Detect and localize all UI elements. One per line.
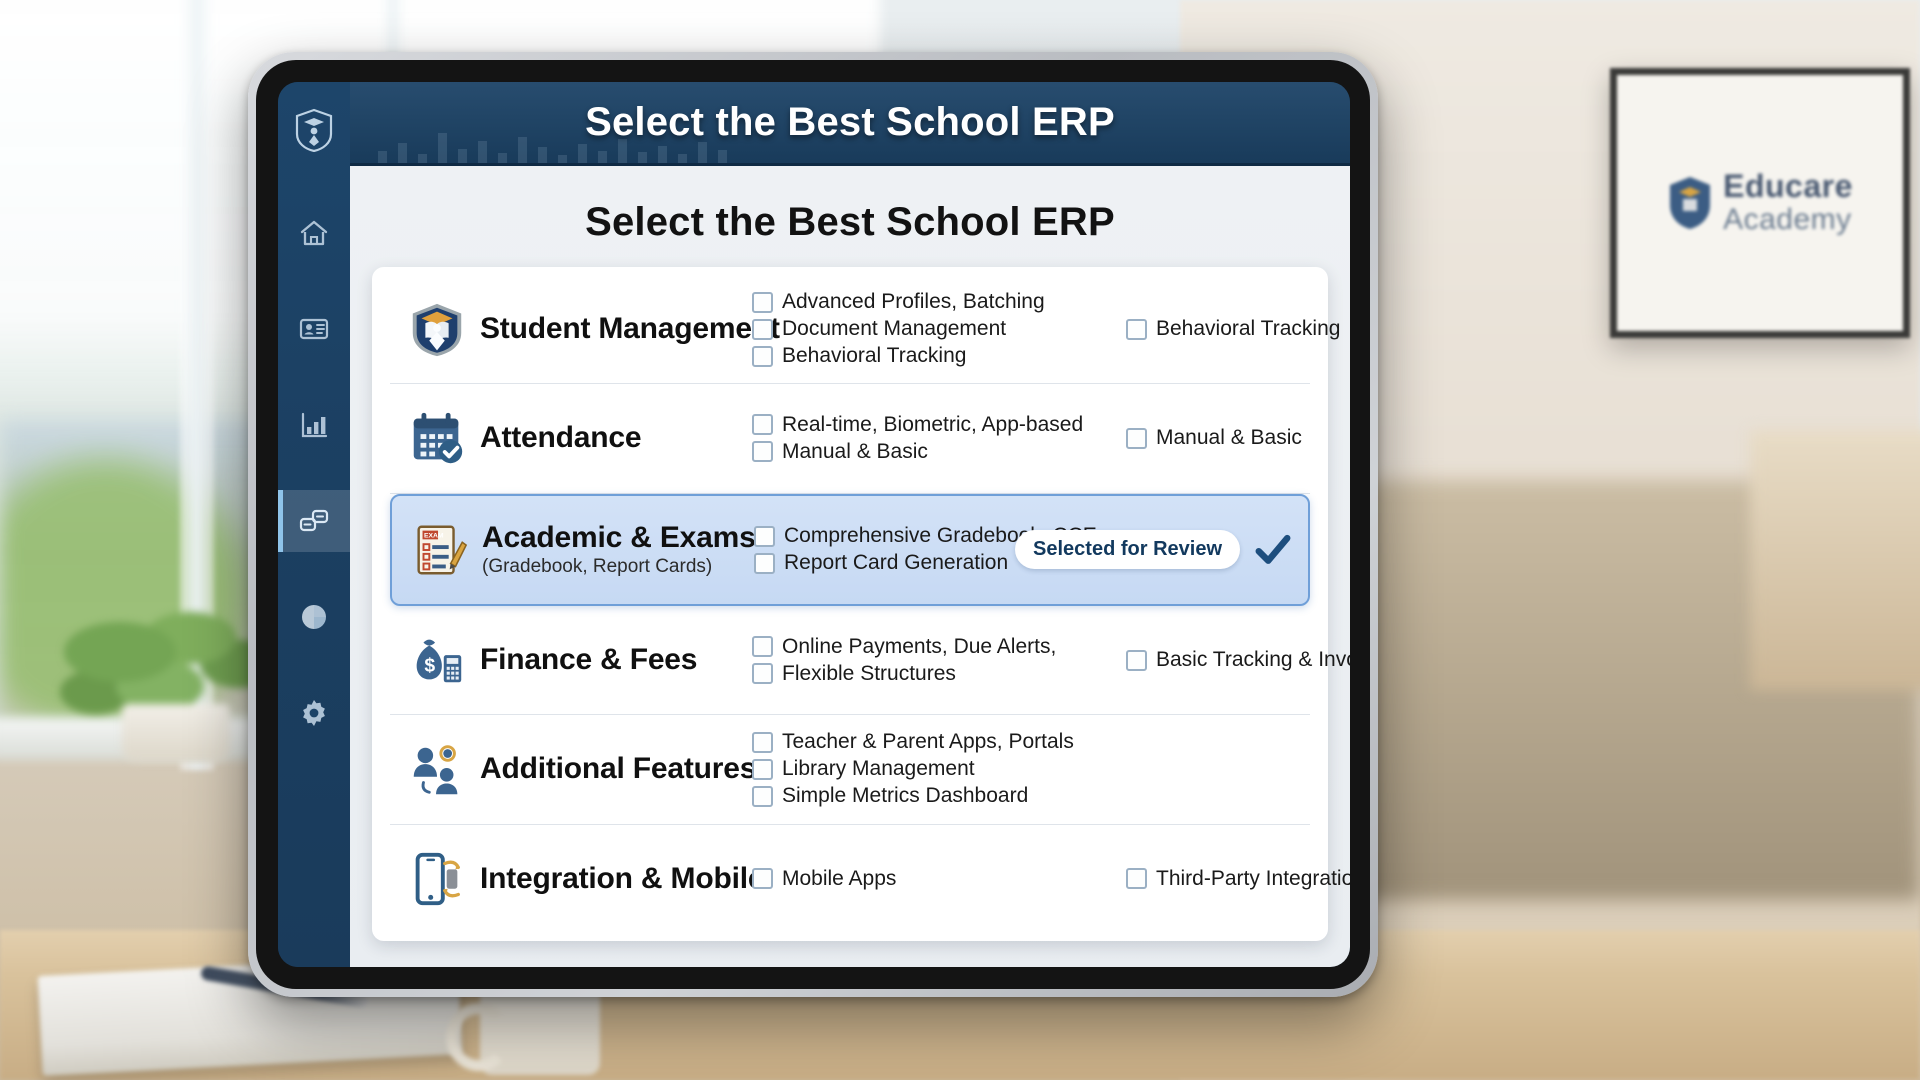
row-options: Real-time, Biometric, App-based Manual &… [752,413,1300,464]
table-row[interactable]: $ [390,606,1310,715]
checkbox[interactable] [754,526,775,547]
tablet-screen: Select the Best School ERP Select the Be… [278,82,1350,967]
checkbox[interactable] [754,553,775,574]
option-item[interactable]: Library Management [752,757,1112,781]
checkbox[interactable] [752,759,773,780]
row-options: Teacher & Parent Apps, Portals Library M… [752,730,1300,808]
row-title: Student Management [480,312,752,346]
checkbox[interactable] [1126,650,1147,671]
checkbox[interactable] [752,292,773,313]
row-options-right: Basic Tracking & Invoices [1112,635,1350,686]
option-item[interactable]: Advanced Profiles, Batching [752,290,1112,314]
option-label: Flexible Structures [782,662,956,686]
office-cabinet [1750,430,1920,690]
table-row-selected[interactable]: EXAM [390,494,1310,606]
erp-feature-comparison-card: Student Management Advanced Profiles, Ba… [372,267,1328,941]
row-options: Comprehensive Gradebook, CCE Report Card… [754,524,1048,575]
sidebar-item-reports[interactable] [278,394,350,456]
gear-icon [298,697,330,729]
row-options-right: Manual & Basic [1112,413,1302,464]
wall-sign-text: Educare Academy [1723,170,1853,235]
option-item[interactable]: Basic Tracking & Invoices [1126,648,1350,672]
option-item[interactable]: Behavioral Tracking [1126,317,1340,341]
sidebar-item-students[interactable] [278,298,350,360]
tablet-bezel: Select the Best School ERP Select the Be… [256,60,1370,989]
row-options: Advanced Profiles, Batching Document Man… [752,290,1300,368]
option-label: Teacher & Parent Apps, Portals [782,730,1074,754]
student-shield-icon [406,298,468,360]
checkbox[interactable] [752,414,773,435]
row-label: Additional Features [474,752,752,786]
option-item[interactable]: Manual & Basic [1126,426,1302,450]
app-topbar: Select the Best School ERP [350,82,1350,166]
row-icon [400,298,474,360]
wall-sign-line1: Educare [1723,170,1853,204]
wall-framed-sign: Educare Academy [1610,68,1910,338]
row-status: Selected for Review [1048,530,1298,569]
option-label: Library Management [782,757,975,781]
option-label: Advanced Profiles, Batching [782,290,1045,314]
row-title: Integration & Mobile [480,862,752,896]
option-label: Manual & Basic [782,440,928,464]
option-item[interactable]: Manual & Basic [752,440,1112,464]
home-icon [298,217,330,249]
svg-text:$: $ [424,655,435,677]
row-options-left: Advanced Profiles, Batching Document Man… [752,290,1112,368]
status-badge: Selected for Review [1015,530,1240,569]
row-icon [400,407,474,469]
row-title: Finance & Fees [480,643,752,677]
row-label: Integration & Mobile [474,862,752,896]
option-item[interactable]: Mobile Apps [752,867,1112,891]
row-label: Academic & Exams (Gradebook, Report Card… [476,521,754,578]
people-group-icon [406,738,468,800]
row-options-left: Teacher & Parent Apps, Portals Library M… [752,730,1112,808]
row-label: Finance & Fees [474,643,752,677]
id-card-icon [298,313,330,345]
option-label: Online Payments, Due Alerts, [782,635,1056,659]
row-options-right [1112,730,1300,808]
checkbox[interactable] [752,319,773,340]
wall-sign-line2: Academy [1723,204,1853,236]
option-label: Behavioral Tracking [782,344,966,368]
option-label: Real-time, Biometric, App-based [782,413,1083,437]
check-icon [1254,531,1292,569]
option-label: Basic Tracking & Invoices [1156,648,1350,672]
sidebar-item-settings[interactable] [278,682,350,744]
option-item[interactable]: Teacher & Parent Apps, Portals [752,730,1112,754]
sidebar-item-home[interactable] [278,202,350,264]
pie-chart-icon [298,601,330,633]
row-options-left: Online Payments, Due Alerts, Flexible St… [752,635,1112,686]
checkbox[interactable] [752,868,773,889]
app-sidebar [278,82,350,967]
row-options: Mobile Apps Third-Party Integrations [752,867,1300,891]
row-options-right: Behavioral Tracking [1112,290,1340,368]
table-row[interactable]: Integration & Mobile Mobile Apps [390,825,1310,933]
sidebar-item-integrations[interactable] [278,490,350,552]
svg-text:EXAM: EXAM [424,532,444,539]
exam-clipboard-icon: EXAM [408,519,470,581]
option-label: Report Card Generation [784,551,1008,575]
option-label: Simple Metrics Dashboard [782,784,1028,808]
checkbox[interactable] [752,346,773,367]
checkbox[interactable] [752,441,773,462]
checkbox[interactable] [752,636,773,657]
checkbox[interactable] [752,663,773,684]
row-icon: $ [400,629,474,691]
topbar-title: Select the Best School ERP [585,100,1115,145]
option-item[interactable]: Flexible Structures [752,662,1112,686]
checkbox[interactable] [1126,319,1147,340]
calendar-check-icon [406,407,468,469]
table-row[interactable]: Student Management Advanced Profiles, Ba… [390,275,1310,384]
page-title: Select the Best School ERP [372,200,1328,245]
educare-shield-logo-icon [1667,175,1713,231]
row-subtitle: (Gradebook, Report Cards) [482,556,754,578]
row-icon: EXAM [402,519,476,581]
option-item[interactable]: Real-time, Biometric, App-based [752,413,1112,437]
row-options: Online Payments, Due Alerts, Flexible St… [752,635,1300,686]
option-item[interactable]: Document Management [752,317,1112,341]
row-options-left: Real-time, Biometric, App-based Manual &… [752,413,1112,464]
link-integration-icon [298,505,330,537]
row-title: Academic & Exams [482,521,754,555]
checkbox[interactable] [752,732,773,753]
option-label: Third-Party Integrations [1156,867,1350,891]
tablet-device: Select the Best School ERP Select the Be… [248,52,1378,997]
coffee-mug [480,985,600,1075]
option-item[interactable]: Third-Party Integrations [1126,867,1350,891]
row-icon [400,848,474,910]
checkbox[interactable] [1126,428,1147,449]
money-bag-calculator-icon: $ [406,629,468,691]
option-item[interactable]: Online Payments, Due Alerts, [752,635,1112,659]
table-row[interactable]: Additional Features Teacher & Parent App… [390,715,1310,824]
row-title: Additional Features [480,752,752,786]
option-item[interactable]: Simple Metrics Dashboard [752,784,1112,808]
option-label: Mobile Apps [782,867,896,891]
checkbox[interactable] [1126,868,1147,889]
option-item[interactable]: Behavioral Tracking [752,344,1112,368]
row-options-right: Third-Party Integrations [1112,867,1350,891]
bar-chart-icon [298,409,330,441]
row-options-left: Mobile Apps [752,867,1112,891]
option-label: Document Management [782,317,1006,341]
sidebar-item-analytics[interactable] [278,586,350,648]
app-content: Select the Best School ERP [350,166,1350,967]
row-title: Attendance [480,421,752,455]
checkbox[interactable] [752,786,773,807]
app-main: Select the Best School ERP Select the Be… [350,82,1350,967]
row-label: Attendance [474,421,752,455]
option-label: Manual & Basic [1156,426,1302,450]
row-label: Student Management [474,312,752,346]
row-icon [400,738,474,800]
mobile-sync-icon [406,848,468,910]
shield-graduation-logo-icon [294,108,334,152]
table-row[interactable]: Attendance Real-time, Biometric, App-bas… [390,384,1310,493]
option-label: Behavioral Tracking [1156,317,1340,341]
